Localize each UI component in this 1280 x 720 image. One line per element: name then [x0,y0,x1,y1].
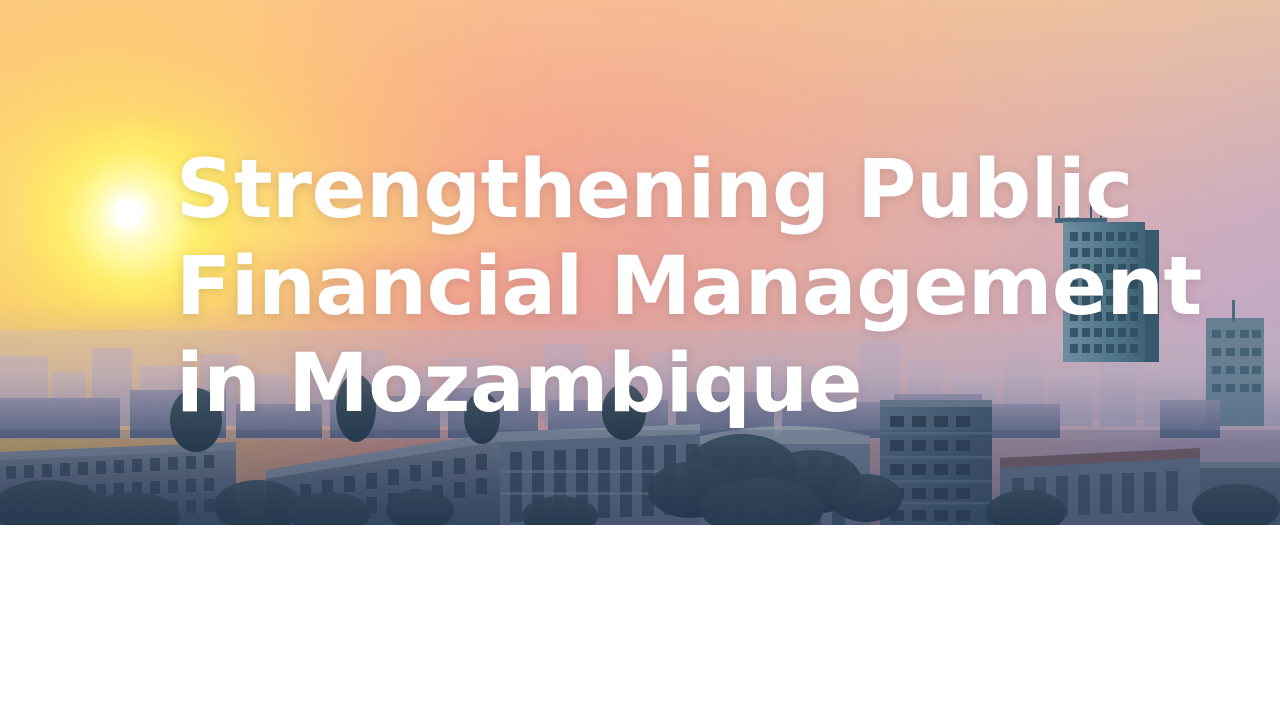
page-title: Strengthening Public Financial Managemen… [176,142,1156,433]
logo-footer: INTERNATIONAL MONETARY FUND ★ ★ [0,525,1280,720]
presentation-slide: Strengthening Public Financial Managemen… [0,0,1280,720]
title-line-3: in Mozambique [176,336,1156,433]
title-line-1: Strengthening Public [176,142,1156,239]
hero-image: Strengthening Public Financial Managemen… [0,0,1280,525]
title-line-2: Financial Management [176,239,1156,336]
